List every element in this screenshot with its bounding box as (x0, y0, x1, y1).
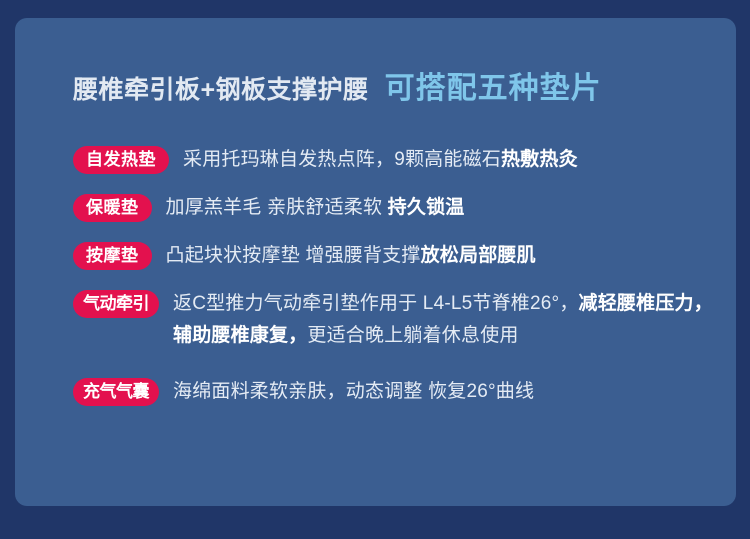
feature-row: 保暖垫 加厚羔羊毛 亲肤舒适柔软 持久锁温 (73, 192, 713, 224)
feature-description: 海绵面料柔软亲肤，动态调整 恢复26°曲线 (173, 376, 713, 408)
feature-row: 气动牵引 返C型推力气动牵引垫作用于 L4-L5节脊椎26°，减轻腰椎压力，辅助… (73, 288, 713, 352)
feature-badge-air-cushion: 充气气囊 (73, 378, 159, 406)
feature-badge-massage: 按摩垫 (73, 242, 152, 270)
feature-description: 加厚羔羊毛 亲肤舒适柔软 持久锁温 (166, 192, 714, 224)
page-title: 腰椎牵引板+钢板支撑护腰 可搭配五种垫片 (73, 74, 602, 104)
poster-root: 腰椎牵引板+钢板支撑护腰 可搭配五种垫片 自发热垫 采用托玛琳自发热点阵，9颗高… (0, 0, 750, 539)
feature-text-bold: 持久锁温 (388, 197, 465, 218)
feature-badge-self-heating: 自发热垫 (73, 146, 169, 174)
feature-badge-pneumatic-traction: 气动牵引 (73, 290, 159, 318)
feature-text-normal: 海绵面料柔软亲肤，动态调整 恢复26°曲线 (173, 381, 534, 402)
feature-text-normal: 加厚羔羊毛 亲肤舒适柔软 (166, 197, 388, 218)
feature-text-normal: 返C型推力气动牵引垫作用于 L4-L5节脊椎26°， (173, 293, 579, 314)
title-main-text: 腰椎牵引板+钢板支撑护腰 (73, 78, 369, 103)
content-panel: 腰椎牵引板+钢板支撑护腰 可搭配五种垫片 自发热垫 采用托玛琳自发热点阵，9颗高… (15, 18, 736, 506)
feature-description: 返C型推力气动牵引垫作用于 L4-L5节脊椎26°，减轻腰椎压力，辅助腰椎康复，… (173, 288, 713, 352)
title-accent-text: 可搭配五种垫片 (385, 74, 602, 104)
feature-text-tail: 更适合晚上躺着休息使用 (307, 325, 518, 346)
feature-description: 凸起块状按摩垫 增强腰背支撑放松局部腰肌 (166, 240, 714, 272)
feature-row: 自发热垫 采用托玛琳自发热点阵，9颗高能磁石热敷热灸 (73, 144, 713, 176)
feature-badge-warming: 保暖垫 (73, 194, 152, 222)
feature-text-bold: 热敷热灸 (501, 149, 578, 170)
feature-description: 采用托玛琳自发热点阵，9颗高能磁石热敷热灸 (183, 144, 713, 176)
feature-text-bold: 放松局部腰肌 (421, 245, 536, 266)
feature-row: 充气气囊 海绵面料柔软亲肤，动态调整 恢复26°曲线 (73, 376, 713, 408)
feature-list: 自发热垫 采用托玛琳自发热点阵，9颗高能磁石热敷热灸 保暖垫 加厚羔羊毛 亲肤舒… (73, 144, 713, 424)
feature-text-normal: 采用托玛琳自发热点阵，9颗高能磁石 (183, 149, 501, 170)
feature-row: 按摩垫 凸起块状按摩垫 增强腰背支撑放松局部腰肌 (73, 240, 713, 272)
feature-text-normal: 凸起块状按摩垫 增强腰背支撑 (166, 245, 421, 266)
